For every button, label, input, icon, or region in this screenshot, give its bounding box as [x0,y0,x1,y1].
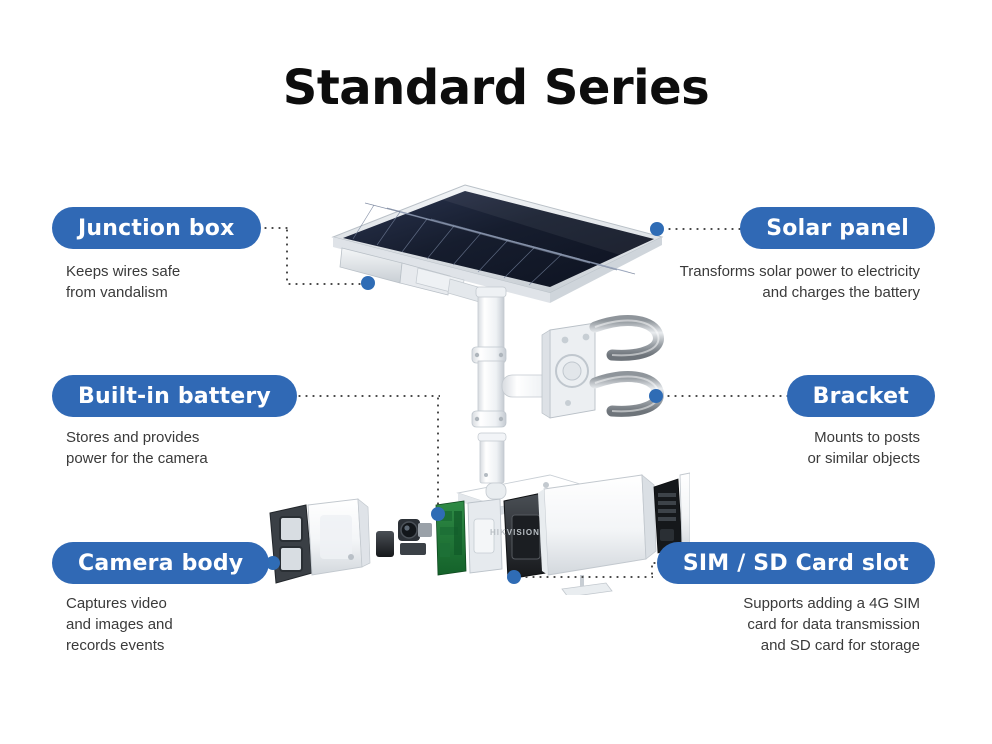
callout-desc-bracket: Mounts to posts or similar objects [640,427,920,469]
camera-front-housing [308,499,370,575]
camera-front-bezel [270,505,312,583]
solar-panel-graphic [333,185,662,303]
connector-dot-battery [431,507,445,521]
mounting-pole-graphic [472,287,506,483]
connector-sim-sd-h1 [523,576,653,578]
callout-pill-solar-panel[interactable]: Solar panel [740,207,935,249]
hikvision-brandmark: HIKVISION [490,528,540,537]
callout-desc-built-in-battery: Stores and provides power for the camera [66,427,306,469]
callout-desc-camera-body: Captures video and images and records ev… [66,593,296,656]
connector-dot-sim-sd [507,570,521,584]
infographic-canvas: Standard Series [0,0,992,744]
callout-desc-junction-box: Keeps wires safe from vandalism [66,261,296,303]
callout-pill-camera-body[interactable]: Camera body [52,542,269,584]
connector-junction-box-h2 [286,283,364,285]
callout-pill-bracket[interactable]: Bracket [787,375,935,417]
callout-desc-solar-panel: Transforms solar power to electricity an… [620,261,920,303]
camera-connector-block [376,531,394,557]
connector-battery-v [437,395,439,513]
connector-dot-solar-panel [650,222,664,236]
callout-pill-sim-sd-card-slot[interactable]: SIM / SD Card slot [657,542,935,584]
callout-desc-sim-sd-card-slot: Supports adding a 4G SIM card for data t… [620,593,920,656]
connector-dot-bracket [649,389,663,403]
page-title: Standard Series [0,60,992,116]
connector-dot-junction-box [361,276,375,290]
callout-pill-built-in-battery[interactable]: Built-in battery [52,375,297,417]
product-illustration [250,175,690,595]
camera-end-cap [680,473,690,551]
camera-lens-assembly [398,519,432,555]
connector-sim-sd-v [651,563,653,577]
callout-pill-junction-box[interactable]: Junction box [52,207,261,249]
bracket-graphic [502,321,659,418]
solar-camera-exploded-svg [250,175,690,595]
